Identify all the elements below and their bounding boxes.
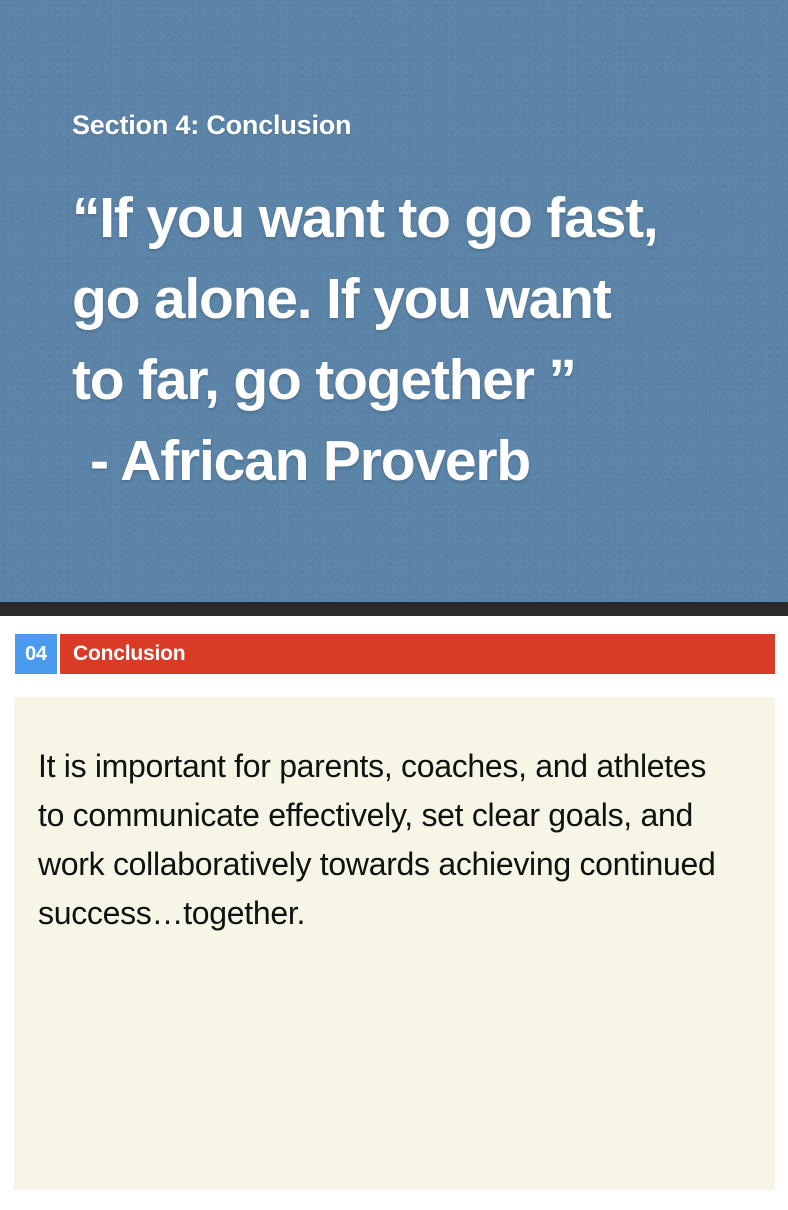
- quote-line: go alone. If you want: [72, 259, 772, 340]
- section-header: 04 Conclusion: [0, 634, 788, 674]
- section-eyebrow: Section 4: Conclusion: [72, 110, 351, 141]
- body-panel: It is important for parents, coaches, an…: [14, 697, 775, 1190]
- quote-slide: Section 4: Conclusion “If you want to go…: [0, 0, 788, 602]
- body-paragraph: It is important for parents, coaches, an…: [38, 742, 738, 938]
- section-title: Conclusion: [60, 642, 185, 666]
- section-number-badge: 04: [15, 634, 57, 674]
- quote-line: “If you want to go fast,: [72, 178, 772, 259]
- slide-separator: [0, 602, 788, 616]
- quote-block: “If you want to go fast, go alone. If yo…: [72, 178, 772, 502]
- quote-line: to far, go together ”: [72, 340, 772, 421]
- section-title-bar: Conclusion: [60, 634, 775, 674]
- quote-attribution: - African Proverb: [72, 421, 772, 502]
